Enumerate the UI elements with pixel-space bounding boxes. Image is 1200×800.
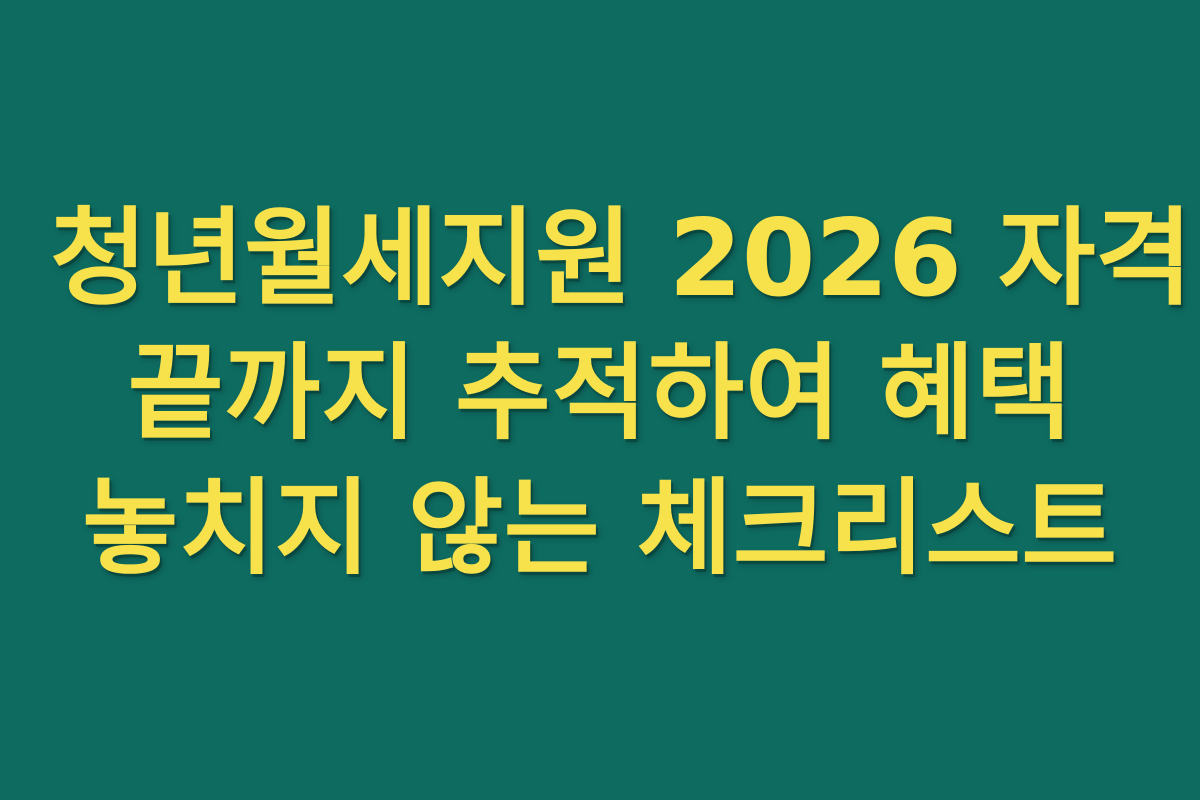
headline-block: 청년월세지원 2026 자격 끝까지 추적하여 혜택 놓치지 않는 체크리스트 <box>50 191 1150 596</box>
headline-line-2: 끝까지 추적하여 혜택 <box>50 326 1150 461</box>
headline-line-3: 놓치지 않는 체크리스트 <box>50 461 1150 596</box>
thumbnail-card: 청년월세지원 2026 자격 끝까지 추적하여 혜택 놓치지 않는 체크리스트 <box>0 0 1200 800</box>
headline-line-1: 청년월세지원 2026 자격 <box>50 191 1150 326</box>
